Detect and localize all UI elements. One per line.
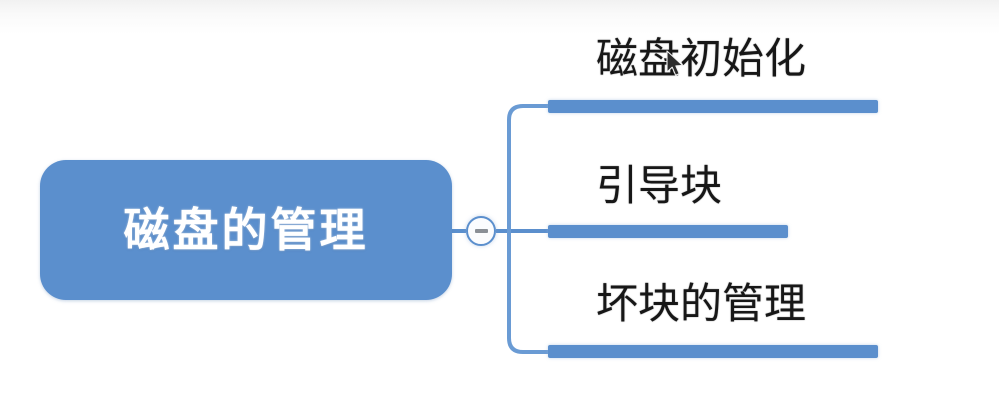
collapse-toggle-button[interactable] [466,216,496,246]
branch-underline-3 [548,345,878,358]
branch-underline-2 [548,225,788,238]
connector-branch-3 [509,231,550,352]
root-node[interactable]: 磁盘的管理 [40,160,452,300]
connector-branch-1 [509,106,550,231]
root-node-label: 磁盘的管理 [124,207,369,253]
mindmap-canvas: 磁盘的管理 磁盘初始化 引导块 坏块的管理 [0,0,999,401]
branch-label-3: 坏块的管理 [596,283,806,325]
branch-label-2: 引导块 [596,165,722,207]
branch-label-1: 磁盘初始化 [596,38,806,80]
branch-underline-1 [548,100,878,113]
minus-icon [475,229,488,233]
